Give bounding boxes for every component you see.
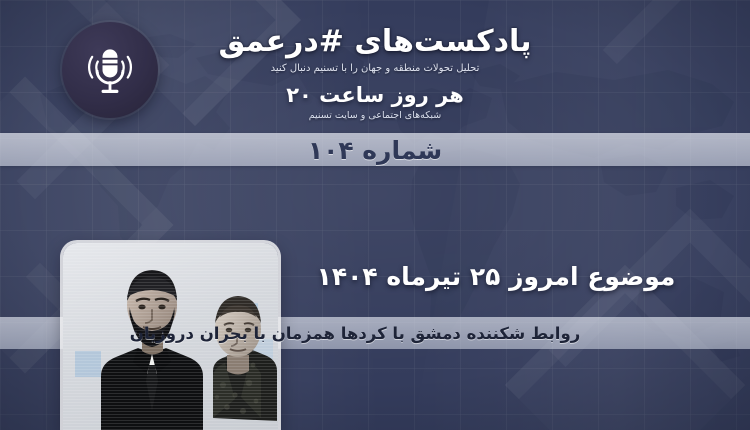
social-channels-note: شبکه‌های اجتماعی و سایت تسنیم <box>0 110 750 121</box>
broadcast-time: هر روز ساعت ۲۰ <box>0 83 750 107</box>
headline-text: روابط شکننده دمشق با کردها همزمان با بحر… <box>0 317 750 349</box>
topic-title: موضوع امروز ۲۵ تیرماه ۱۴۰۴ <box>266 262 726 291</box>
header-subtitle: تحلیل تحولات منطقه و جهان را با تسنیم دن… <box>0 63 750 74</box>
page-title: پادکست‌های #درعمق <box>0 24 750 59</box>
episode-number: شماره ۱۰۴ <box>0 134 750 166</box>
podcast-cover-graphic: پادکست‌های #درعمق تحلیل تحولات منطقه و ج… <box>0 0 750 430</box>
header-block: پادکست‌های #درعمق تحلیل تحولات منطقه و ج… <box>0 0 750 121</box>
